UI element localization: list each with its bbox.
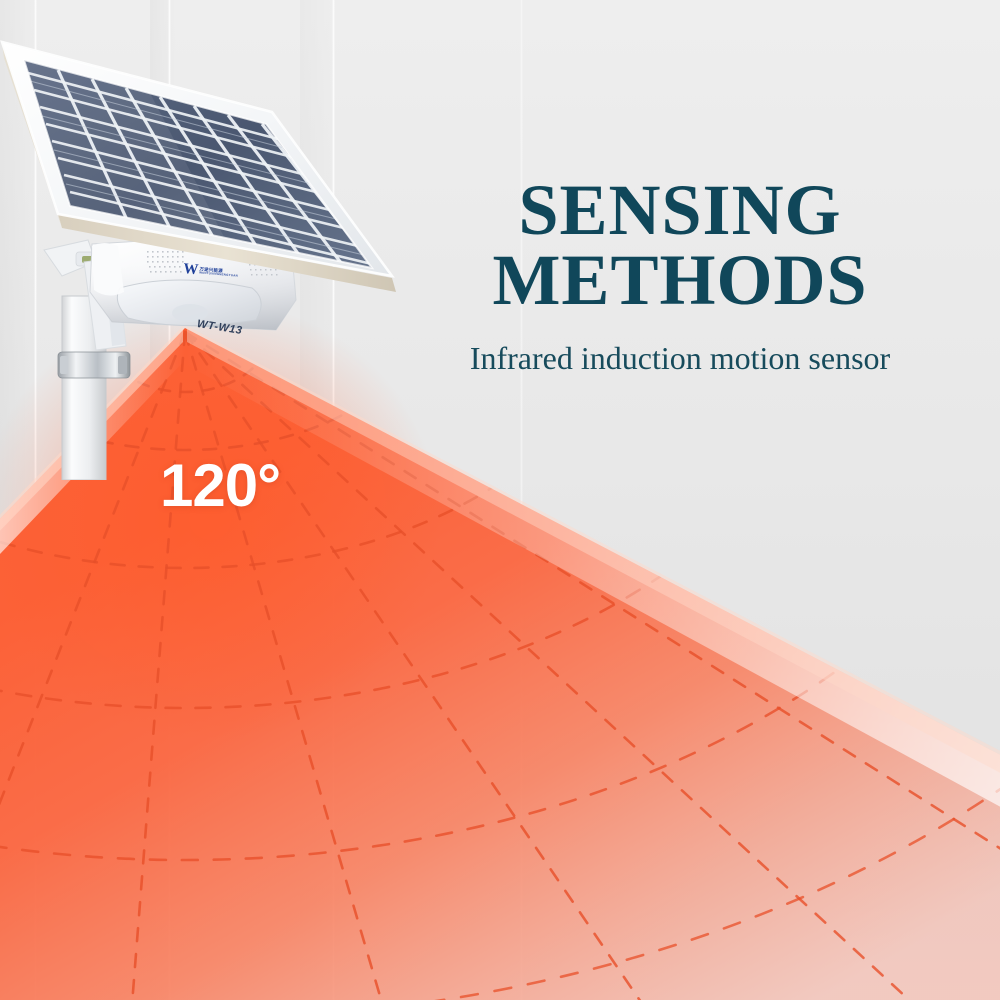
subtitle-text: Infrared induction motion sensor xyxy=(380,340,980,377)
brand-text-en: WANTUXINGNENGYUAN xyxy=(199,272,238,279)
title-line-2: METHODS xyxy=(380,246,980,316)
title-block: SENSING METHODS xyxy=(380,176,980,316)
title-line-1: SENSING xyxy=(380,176,980,246)
product-feature-graphic: 120° xyxy=(0,0,1000,1000)
brand-w-icon: W xyxy=(183,262,197,278)
